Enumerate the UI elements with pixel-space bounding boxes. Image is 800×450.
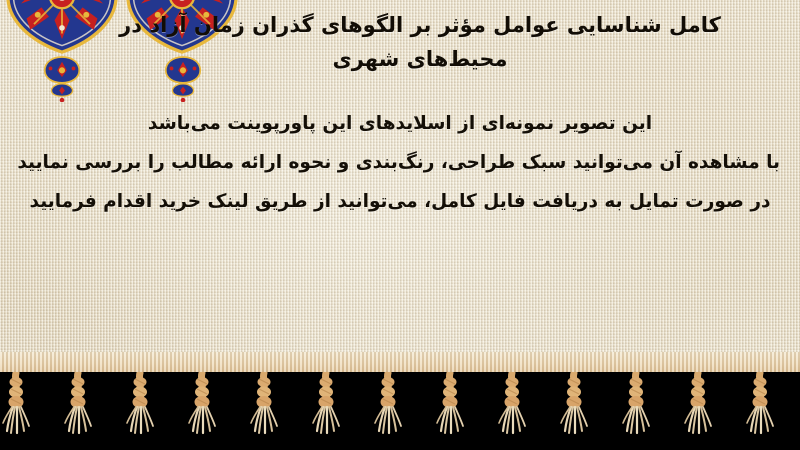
slide-title: کامل شناسایی عوامل مؤثر بر الگوهای گذران… [70, 8, 770, 76]
carpet-fringe-tassel [430, 372, 470, 442]
carpet-fringe-tassel [58, 372, 98, 442]
slide-canvas: کامل شناسایی عوامل مؤثر بر الگوهای گذران… [0, 0, 800, 450]
carpet-fringe-tassel [678, 372, 718, 442]
slide-body-line-3: در صورت تمایل به دریافت فایل کامل، می‌تو… [20, 182, 780, 221]
carpet-fringe-tassel [740, 372, 780, 442]
slide-body: این تصویر نمونه‌ای از اسلایدهای این پاور… [20, 104, 780, 221]
carpet-fringe-tassel [492, 372, 532, 442]
carpet-fringe-tassel [368, 372, 408, 442]
slide-title-line-2: محیط‌های شهری [70, 42, 770, 76]
slide-body-line-1: این تصویر نمونه‌ای از اسلایدهای این پاور… [20, 104, 780, 143]
carpet-fringe-tassel [244, 372, 284, 442]
carpet-fringe [0, 372, 800, 450]
slide-title-line-1: کامل شناسایی عوامل مؤثر بر الگوهای گذران… [70, 8, 770, 42]
carpet-fringe-tassel [306, 372, 346, 442]
carpet-fringe-tassel [554, 372, 594, 442]
carpet-fringe-tassel [616, 372, 656, 442]
carpet-fringe-tassel [182, 372, 222, 442]
carpet-fringe-tassel [0, 372, 36, 442]
carpet-fringe-tassel [120, 372, 160, 442]
slide-body-line-2: با مشاهده آن می‌توانید سبک طراحی، رنگ‌بن… [20, 143, 780, 182]
